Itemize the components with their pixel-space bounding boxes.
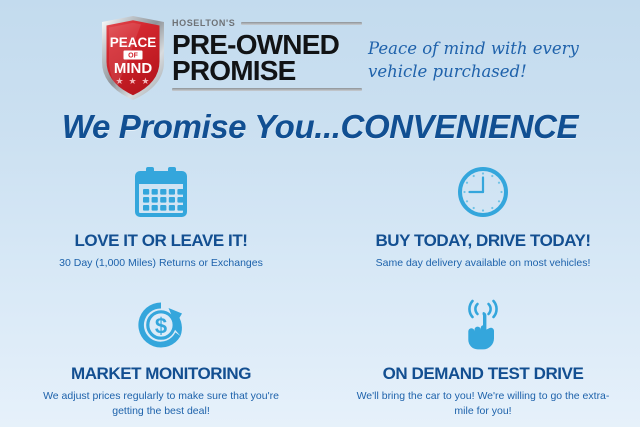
brand-wordmark: HOSELTON'S PRE-OWNED PROMISE xyxy=(172,16,362,91)
dealer-name: HOSELTON'S xyxy=(172,18,235,28)
header-rule-top xyxy=(241,22,362,25)
page-title: We Promise You...CONVENIENCE xyxy=(0,108,640,146)
svg-text:$: $ xyxy=(155,313,167,338)
tap-hand-icon xyxy=(458,298,508,352)
feature-icon-wrap xyxy=(134,162,188,222)
feature-title: LOVE IT OR LEAVE IT! xyxy=(75,231,248,251)
feature-on-demand-test-drive: ON DEMAND TEST DRIVE We'll bring the car… xyxy=(320,291,640,424)
shield-line2: OF xyxy=(128,53,138,60)
brand-title-line2: PROMISE xyxy=(172,58,362,85)
feature-title: ON DEMAND TEST DRIVE xyxy=(383,364,584,384)
header-rule-bottom xyxy=(172,88,362,91)
feature-subtitle: 30 Day (1,000 Miles) Returns or Exchange… xyxy=(59,256,263,271)
header-tagline: Peace of mind with every vehicle purchas… xyxy=(368,38,618,84)
dollar-refresh-icon: $ xyxy=(135,299,187,351)
clock-icon xyxy=(457,166,509,218)
feature-title: BUY TODAY, DRIVE TODAY! xyxy=(375,231,590,251)
feature-title: MARKET MONITORING xyxy=(71,364,251,384)
feature-icon-wrap xyxy=(457,162,509,222)
features-grid: LOVE IT OR LEAVE IT! 30 Day (1,000 Miles… xyxy=(0,158,640,423)
banner-header: PEACE OF MIND ★ ★ ★ HOSELTON'S PRE-OWNED… xyxy=(0,8,640,103)
calendar-icon xyxy=(134,166,188,218)
peace-of-mind-shield-logo: PEACE OF MIND ★ ★ ★ xyxy=(97,14,169,102)
promise-banner: PEACE OF MIND ★ ★ ★ HOSELTON'S PRE-OWNED… xyxy=(0,0,640,427)
eyebrow-row: HOSELTON'S xyxy=(172,16,362,30)
feature-subtitle: We adjust prices regularly to make sure … xyxy=(34,389,289,419)
feature-buy-today-drive-today: BUY TODAY, DRIVE TODAY! Same day deliver… xyxy=(320,158,640,291)
feature-subtitle: Same day delivery available on most vehi… xyxy=(376,256,591,271)
feature-icon-wrap xyxy=(458,295,508,355)
feature-market-monitoring: $ MARKET MONITORING We adjust prices reg… xyxy=(0,291,320,424)
shield-stars: ★ ★ ★ xyxy=(116,77,151,87)
shield-line3: MIND xyxy=(114,60,152,77)
feature-love-it-or-leave-it: LOVE IT OR LEAVE IT! 30 Day (1,000 Miles… xyxy=(0,158,320,291)
feature-icon-wrap: $ xyxy=(135,295,187,355)
shield-icon: PEACE OF MIND ★ ★ ★ xyxy=(97,14,169,102)
shield-line1: PEACE xyxy=(110,35,157,50)
feature-subtitle: We'll bring the car to you! We're willin… xyxy=(356,389,611,419)
